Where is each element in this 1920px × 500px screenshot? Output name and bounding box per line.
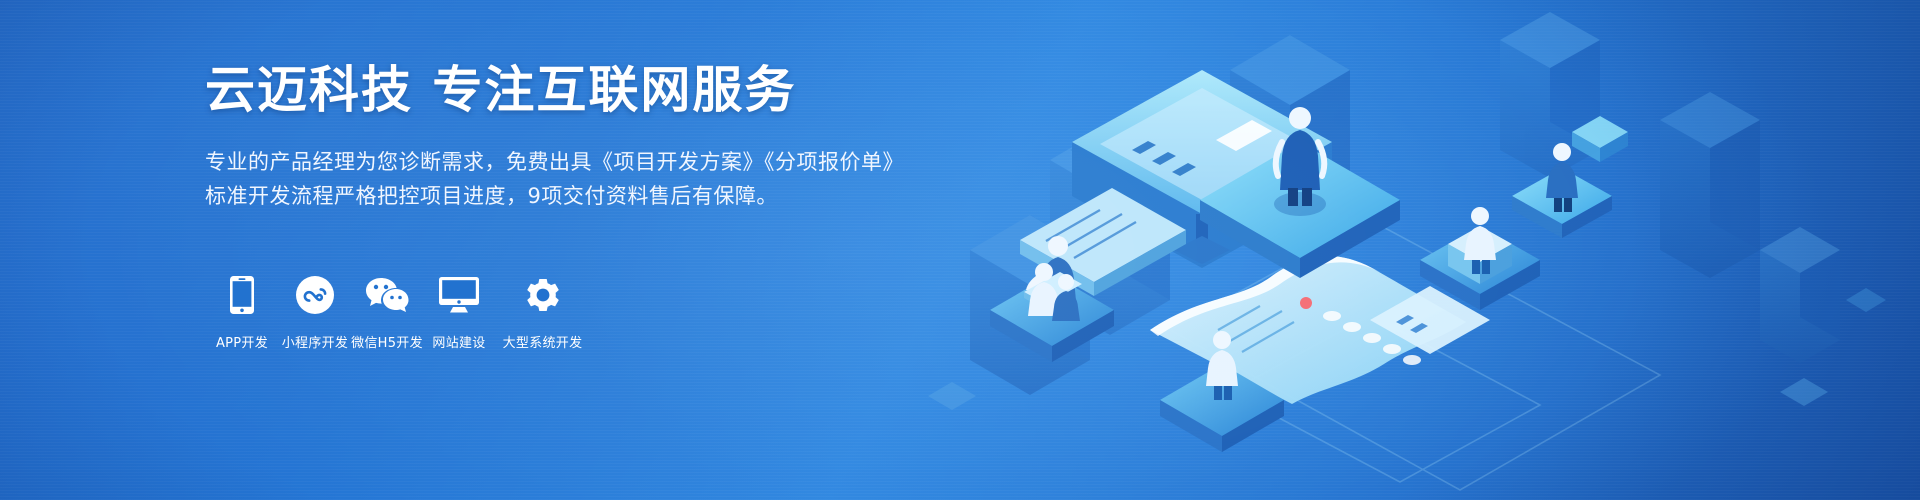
page-title: 云迈科技 专注互联网服务 bbox=[205, 62, 1105, 120]
monitor-icon bbox=[438, 272, 480, 318]
service-item-large-system[interactable]: 大型系统开发 bbox=[495, 272, 590, 351]
subtitle-line-1: 专业的产品经理为您诊断需求，免费出具《项目开发方案》《分项报价单》 bbox=[205, 145, 1105, 179]
hero-banner: 云迈科技 专注互联网服务 专业的产品经理为您诊断需求，免费出具《项目开发方案》《… bbox=[0, 0, 1920, 500]
banner-copy: 云迈科技 专注互联网服务 专业的产品经理为您诊断需求，免费出具《项目开发方案》《… bbox=[205, 62, 1105, 213]
service-label: 大型系统开发 bbox=[503, 332, 583, 351]
service-icon-list: APP开发 小程序开发 bbox=[205, 272, 590, 351]
service-item-wechat-h5[interactable]: 微信H5开发 bbox=[351, 272, 423, 351]
service-item-app[interactable]: APP开发 bbox=[205, 272, 279, 351]
subtitle-line-2: 标准开发流程严格把控项目进度，9项交付资料售后有保障。 bbox=[205, 179, 1105, 213]
gear-icon bbox=[523, 272, 563, 318]
banner-subtitle: 专业的产品经理为您诊断需求，免费出具《项目开发方案》《分项报价单》 标准开发流程… bbox=[205, 145, 1105, 213]
service-label: 小程序开发 bbox=[282, 332, 349, 351]
service-item-miniprogram[interactable]: 小程序开发 bbox=[279, 272, 351, 351]
mini-program-icon bbox=[295, 272, 335, 318]
service-label: 网站建设 bbox=[432, 332, 485, 351]
mobile-phone-icon bbox=[229, 272, 255, 318]
wechat-icon bbox=[365, 272, 409, 318]
service-label: 微信H5开发 bbox=[351, 332, 423, 351]
service-item-website[interactable]: 网站建设 bbox=[423, 272, 495, 351]
service-label: APP开发 bbox=[216, 332, 268, 351]
